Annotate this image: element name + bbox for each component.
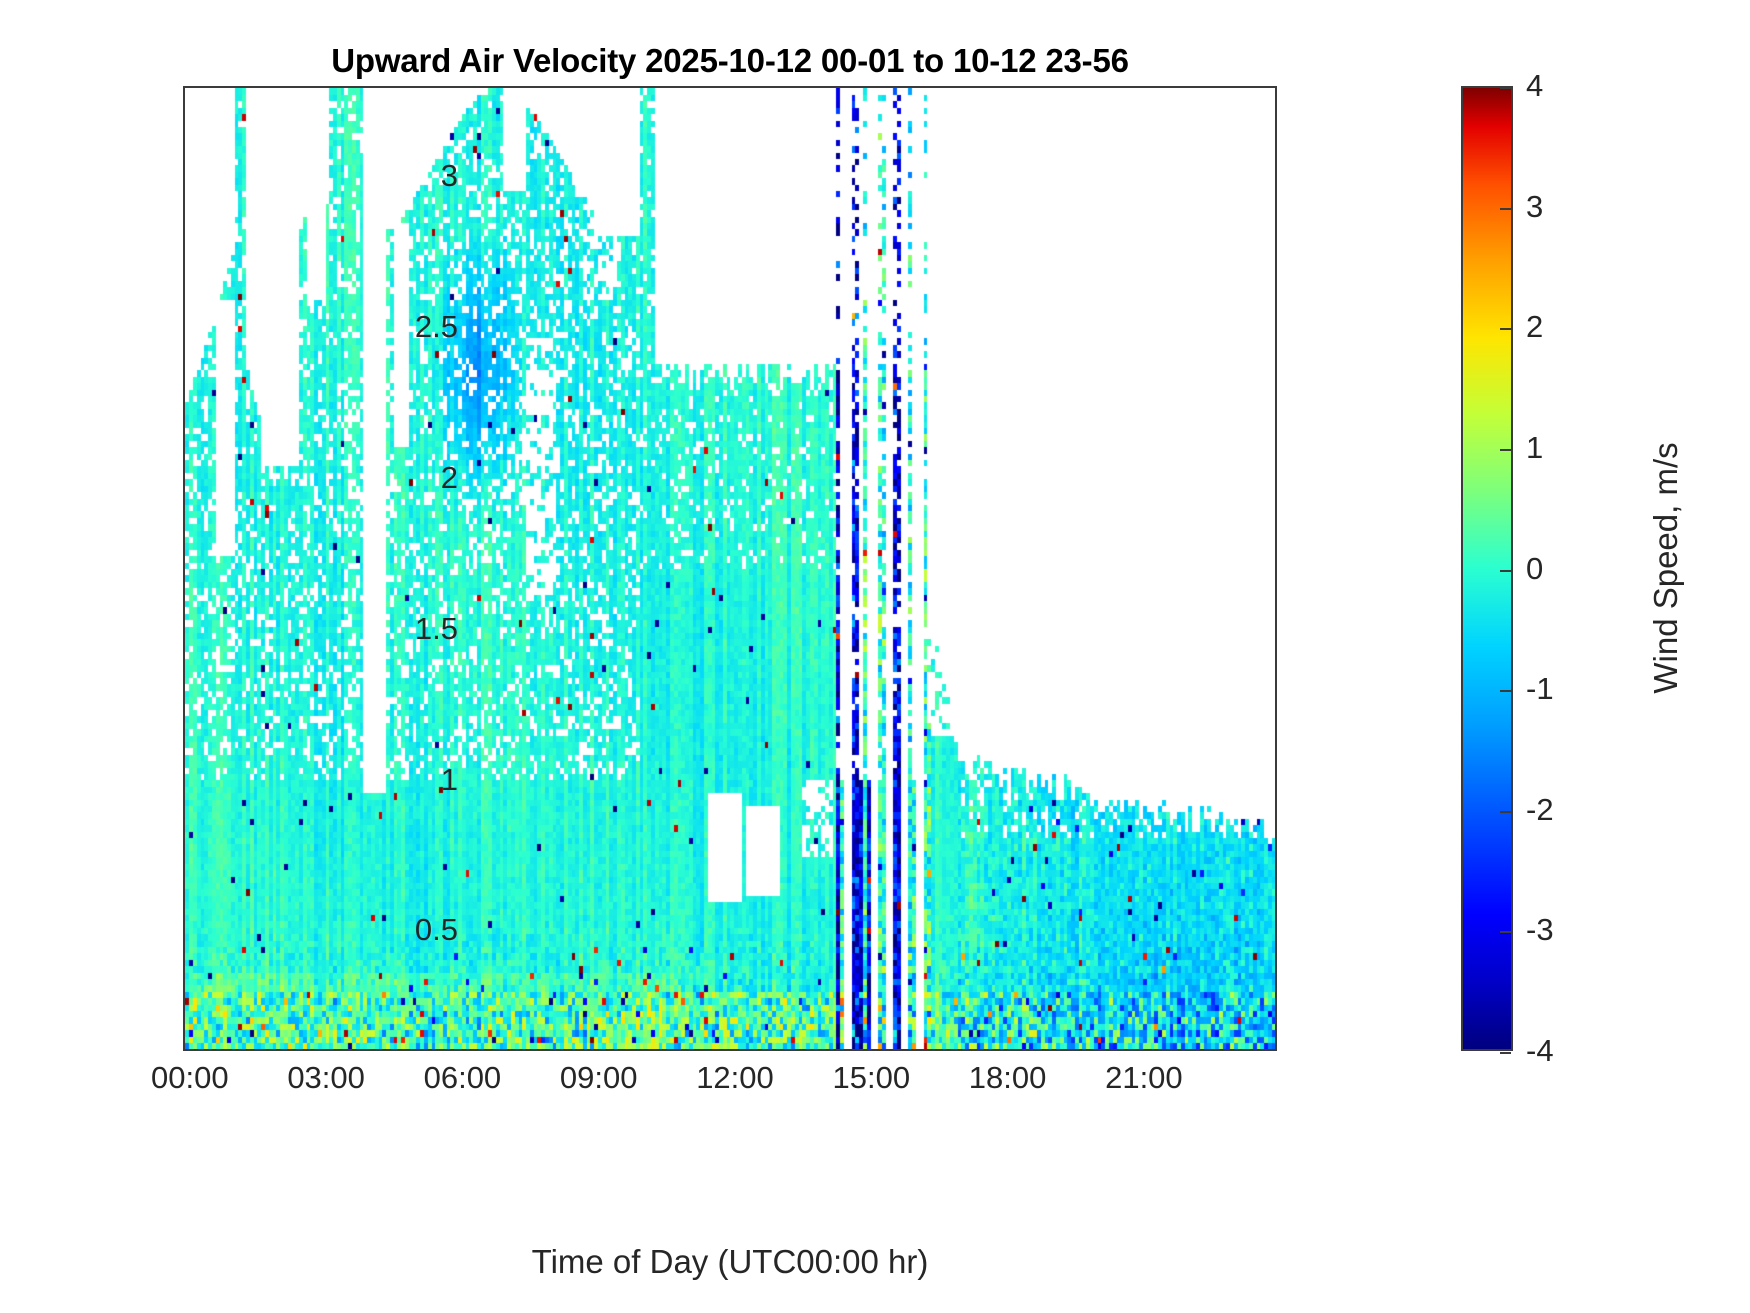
y-tick-label: 2 xyxy=(338,460,458,496)
y-tick-mark xyxy=(183,177,185,179)
x-tick-mark xyxy=(1009,1049,1011,1051)
x-tick-mark xyxy=(600,86,602,88)
y-tick-label: 1.5 xyxy=(338,611,458,647)
y-tick-mark xyxy=(183,931,185,933)
x-tick-mark xyxy=(191,1049,193,1051)
heatmap-image xyxy=(185,88,1275,1049)
colorbar xyxy=(1461,86,1513,1051)
heatmap-axes xyxy=(183,86,1277,1051)
x-tick-mark xyxy=(1145,86,1147,88)
x-tick-label: 15:00 xyxy=(832,1060,910,1096)
x-tick-label: 00:00 xyxy=(151,1060,229,1096)
y-tick-mark xyxy=(183,328,185,330)
x-tick-label: 09:00 xyxy=(560,1060,638,1096)
x-tick-mark xyxy=(463,1049,465,1051)
x-tick-mark xyxy=(463,86,465,88)
colorbar-tick-label: 1 xyxy=(1526,430,1543,466)
y-tick-mark xyxy=(1275,630,1277,632)
colorbar-tick-mark xyxy=(1500,931,1511,933)
colorbar-tick-label: -3 xyxy=(1526,912,1554,948)
y-tick-mark xyxy=(1275,931,1277,933)
y-tick-mark xyxy=(1275,328,1277,330)
x-tick-label: 03:00 xyxy=(287,1060,365,1096)
colorbar-tick-label: 2 xyxy=(1526,309,1543,345)
x-tick-mark xyxy=(736,86,738,88)
colorbar-tick-mark xyxy=(1500,449,1511,451)
colorbar-tick-label: 4 xyxy=(1526,68,1543,104)
colorbar-tick-mark xyxy=(1500,208,1511,210)
y-tick-label: 2.5 xyxy=(338,309,458,345)
colorbar-tick-mark xyxy=(1500,1052,1511,1054)
x-axis-label: Time of Day (UTC00:00 hr) xyxy=(183,1243,1277,1281)
y-tick-mark xyxy=(183,630,185,632)
x-tick-mark xyxy=(191,86,193,88)
y-tick-label: 1 xyxy=(338,762,458,798)
colorbar-tick-mark xyxy=(1500,570,1511,572)
x-tick-label: 18:00 xyxy=(969,1060,1047,1096)
colorbar-tick-mark xyxy=(1500,690,1511,692)
y-tick-mark xyxy=(183,479,185,481)
y-tick-label: 0.5 xyxy=(338,912,458,948)
colorbar-tick-label: -4 xyxy=(1526,1033,1554,1069)
colorbar-gradient xyxy=(1463,88,1511,1049)
colorbar-tick-label: -1 xyxy=(1526,671,1554,707)
y-tick-mark xyxy=(183,781,185,783)
colorbar-label: Wind Speed, m/s xyxy=(1647,442,1685,693)
x-tick-mark xyxy=(600,1049,602,1051)
x-tick-mark xyxy=(327,1049,329,1051)
colorbar-tick-label: -2 xyxy=(1526,792,1554,828)
y-tick-mark xyxy=(1275,781,1277,783)
x-tick-mark xyxy=(1009,86,1011,88)
x-tick-label: 06:00 xyxy=(424,1060,502,1096)
y-tick-label: 3 xyxy=(338,158,458,194)
page-title: Upward Air Velocity 2025-10-12 00-01 to … xyxy=(183,42,1277,80)
colorbar-tick-label: 0 xyxy=(1526,551,1543,587)
y-tick-mark xyxy=(1275,479,1277,481)
colorbar-tick-mark xyxy=(1500,87,1511,89)
colorbar-tick-label: 3 xyxy=(1526,189,1543,225)
y-tick-mark xyxy=(1275,177,1277,179)
x-tick-label: 21:00 xyxy=(1105,1060,1183,1096)
x-tick-mark xyxy=(327,86,329,88)
x-tick-mark xyxy=(872,86,874,88)
x-tick-mark xyxy=(736,1049,738,1051)
x-tick-label: 12:00 xyxy=(696,1060,774,1096)
colorbar-tick-mark xyxy=(1500,811,1511,813)
x-tick-mark xyxy=(872,1049,874,1051)
x-tick-mark xyxy=(1145,1049,1147,1051)
figure-canvas: Upward Air Velocity 2025-10-12 00-01 to … xyxy=(0,0,1750,1313)
colorbar-tick-mark xyxy=(1500,328,1511,330)
